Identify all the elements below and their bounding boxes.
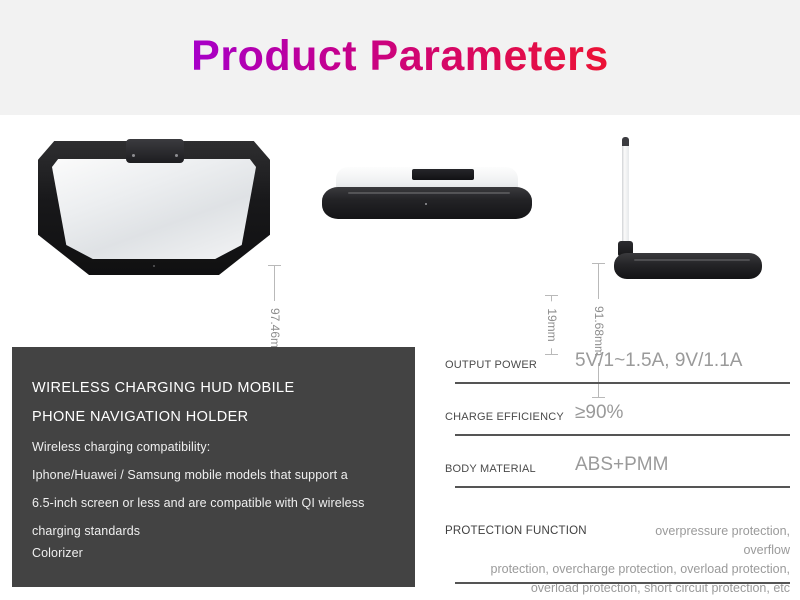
upright-base-body <box>614 253 762 279</box>
spec-divider <box>455 486 790 488</box>
hud-hinge-clip <box>126 139 184 163</box>
compatibility-line-3: charging standards <box>32 524 140 538</box>
description-panel: WIRELESS CHARGING HUD MOBILE PHONE NAVIG… <box>12 347 415 587</box>
hud-reflector-glass <box>52 159 256 259</box>
protection-line-2: protection, overcharge protection, overl… <box>455 560 790 579</box>
spec-divider <box>455 582 790 584</box>
spec-value: ≥90% <box>575 402 623 424</box>
compatibility-heading: Wireless charging compatibility: <box>32 440 210 454</box>
dimension-tick-top <box>268 265 281 266</box>
protection-line-1: overpressure protection, overflow <box>455 522 790 560</box>
upright-base-seam <box>634 259 750 261</box>
front-view-image <box>38 137 270 277</box>
folded-base-seam <box>348 192 510 194</box>
product-parameters-page: Product Parameters <box>0 0 800 600</box>
spec-divider <box>455 382 790 384</box>
compatibility-line-1: Iphone/Huawei / Samsung mobile models th… <box>32 468 348 482</box>
upright-reflector-tip <box>622 137 629 146</box>
spec-value: 5V/1~1.5A, 9V/1.1A <box>575 350 742 372</box>
spec-label: BODY MATERIAL <box>445 463 536 475</box>
dimension-tick-top <box>545 295 558 296</box>
folded-side-view-image <box>322 167 532 222</box>
spec-value: ABS+PMM <box>575 454 668 476</box>
compatibility-line-2: 6.5-inch screen or less and are compatib… <box>32 496 364 510</box>
protection-value: overpressure protection, overflow protec… <box>455 522 790 598</box>
upright-side-view-image <box>600 137 770 277</box>
upright-reflector-panel <box>622 137 629 252</box>
hud-indicator-dot <box>153 265 155 267</box>
product-views-strip: 159.76mm 97.46mm 19mm 91.68mm <box>0 115 800 330</box>
folded-indicator-dot <box>425 203 427 205</box>
header-band: Product Parameters <box>0 0 800 115</box>
product-name-line1: WIRELESS CHARGING HUD MOBILE <box>32 380 295 396</box>
spec-label: CHARGE EFFICIENCY <box>445 411 564 423</box>
dimension-folded-height: 19mm <box>545 295 558 355</box>
page-title: Product Parameters <box>0 32 800 81</box>
specifications-table: OUTPUT POWER 5V/1~1.5A, 9V/1.1A CHARGE E… <box>442 348 792 588</box>
dimension-tick-top <box>592 263 605 264</box>
spec-divider <box>455 434 790 436</box>
product-name-line2: PHONE NAVIGATION HOLDER <box>32 409 249 425</box>
folded-panel-notch <box>412 169 474 180</box>
spec-label: OUTPUT POWER <box>445 359 537 371</box>
dimension-folded-height-label: 19mm <box>545 301 559 348</box>
colorizer-label: Colorizer <box>32 546 83 560</box>
